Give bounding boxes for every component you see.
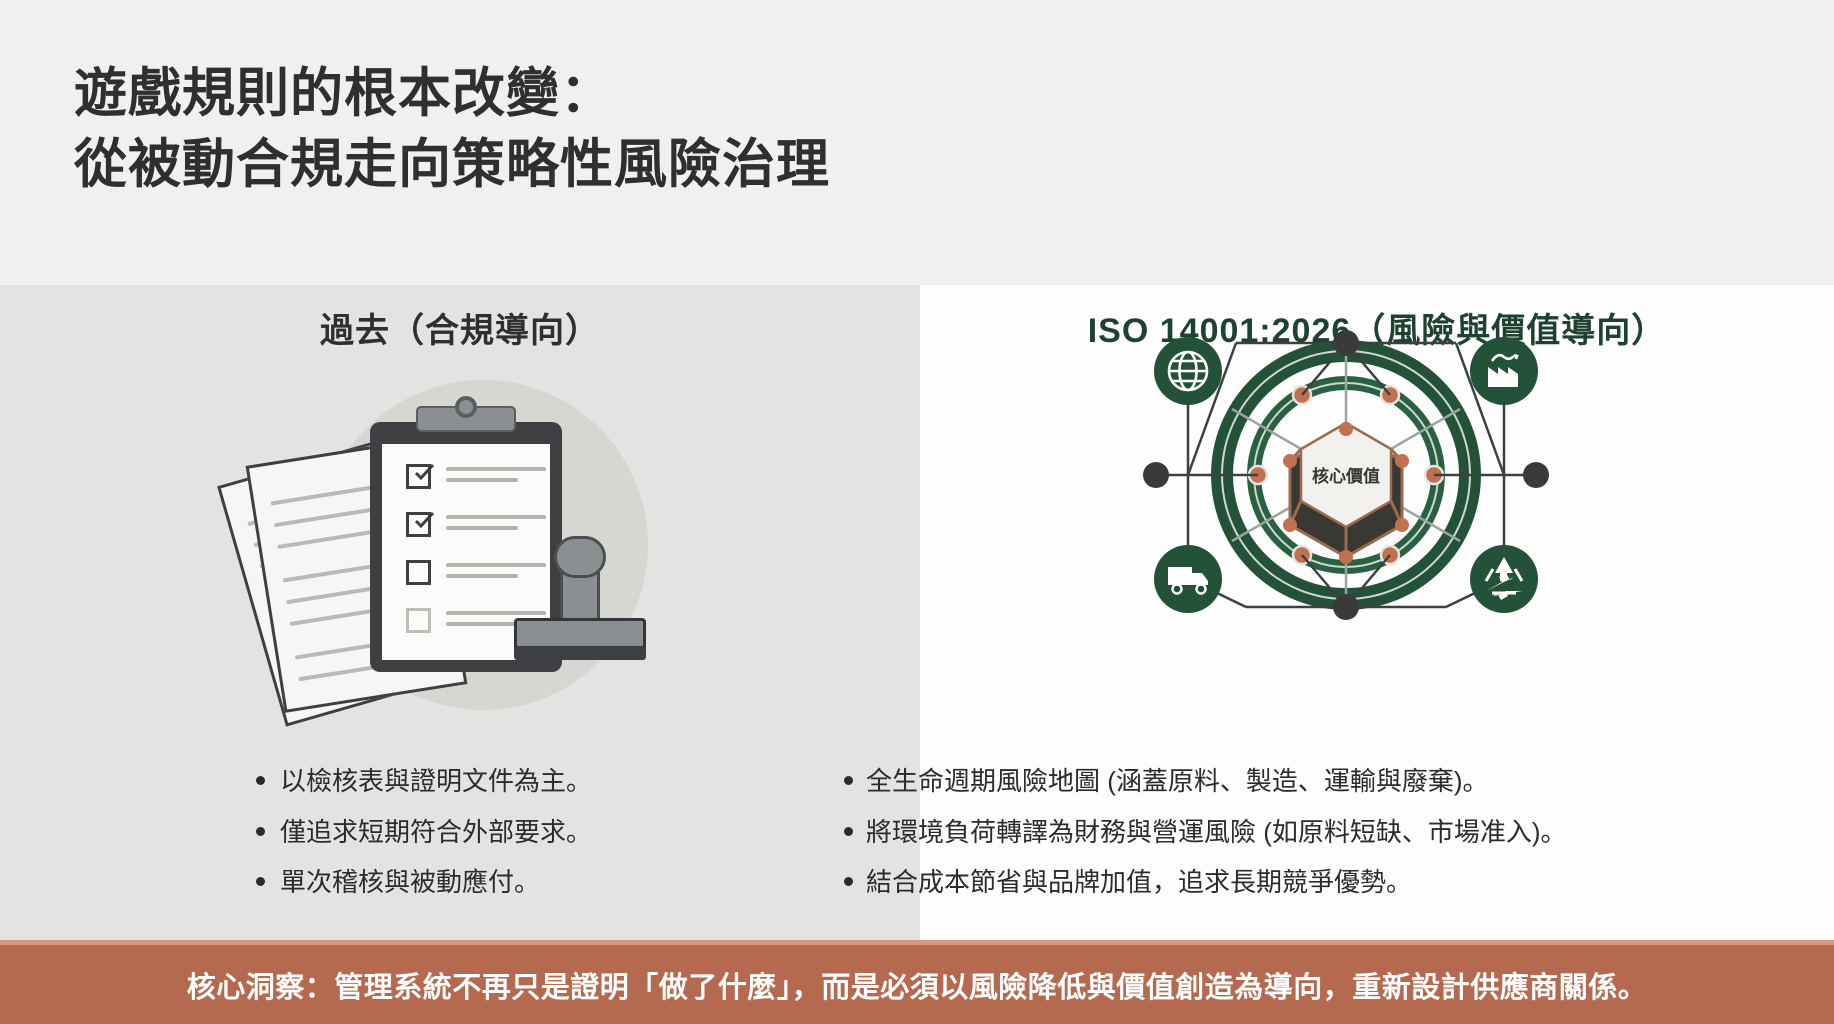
stamp-knob	[554, 536, 606, 578]
checkbox-line-group-1	[446, 467, 546, 489]
globe-icon	[1154, 337, 1222, 405]
list-item: 僅追求短期符合外部要求。	[252, 816, 872, 849]
checkbox-checked-1	[406, 464, 431, 489]
stamp-foot	[514, 646, 646, 660]
clipboard-checklist-stamp-illustration	[230, 370, 690, 715]
list-item: 單次稽核與被動應付。	[252, 866, 872, 899]
checkbox-empty-3	[406, 560, 431, 585]
recycle-icon	[1470, 545, 1538, 613]
check-icon	[413, 464, 435, 482]
list-item: 將環境負荷轉譯為財務與營運風險 (如原料短缺、市場准入)。	[840, 816, 1834, 849]
factory-icon	[1470, 337, 1538, 405]
network-diagram-svg: 核心價值	[1136, 325, 1556, 655]
list-item: 結合成本節省與品牌加值，追求長期競爭優勢。	[840, 866, 1834, 899]
insight-banner-text: 核心洞察：管理系統不再只是證明「做了什麼」，而是必須以風險降低與價值創造為導向，…	[187, 964, 1648, 1006]
slide-root: 遊戲規則的根本改變： 從被動合規走向策略性風險治理 過去（合規導向）	[0, 0, 1834, 1024]
checkbox-checked-2	[406, 512, 431, 537]
left-panel: 過去（合規導向）	[0, 285, 920, 940]
right-panel: ISO 14001:2026（風險與價值導向）	[920, 285, 1834, 940]
list-item: 以檢核表與證明文件為主。	[252, 765, 872, 798]
page-title: 遊戲規則的根本改變： 從被動合規走向策略性風險治理	[74, 58, 830, 200]
left-panel-heading: 過去（合規導向）	[0, 303, 920, 352]
truck-icon	[1154, 545, 1222, 613]
hexagon-value-network-illustration: 核心價值	[1136, 325, 1556, 655]
checkbox-line-group-2	[446, 515, 546, 537]
left-bullet-list: 以檢核表與證明文件為主。 僅追求短期符合外部要求。 單次稽核與被動應付。	[252, 765, 872, 917]
list-item: 全生命週期風險地圖 (涵蓋原料、製造、運輸與廢棄)。	[840, 765, 1834, 798]
center-label: 核心價值	[1312, 466, 1380, 486]
clipboard-ring	[455, 396, 477, 418]
checkbox-empty-4	[406, 608, 431, 633]
right-bullet-list: 全生命週期風險地圖 (涵蓋原料、製造、運輸與廢棄)。 將環境負荷轉譯為財務與營運…	[840, 765, 1834, 917]
insight-banner: 核心洞察：管理系統不再只是證明「做了什麼」，而是必須以風險降低與價值創造為導向，…	[0, 940, 1834, 1024]
check-icon	[413, 512, 435, 530]
slide-header: 遊戲規則的根本改變： 從被動合規走向策略性風險治理	[0, 0, 1834, 285]
checkbox-line-group-3	[446, 563, 546, 585]
